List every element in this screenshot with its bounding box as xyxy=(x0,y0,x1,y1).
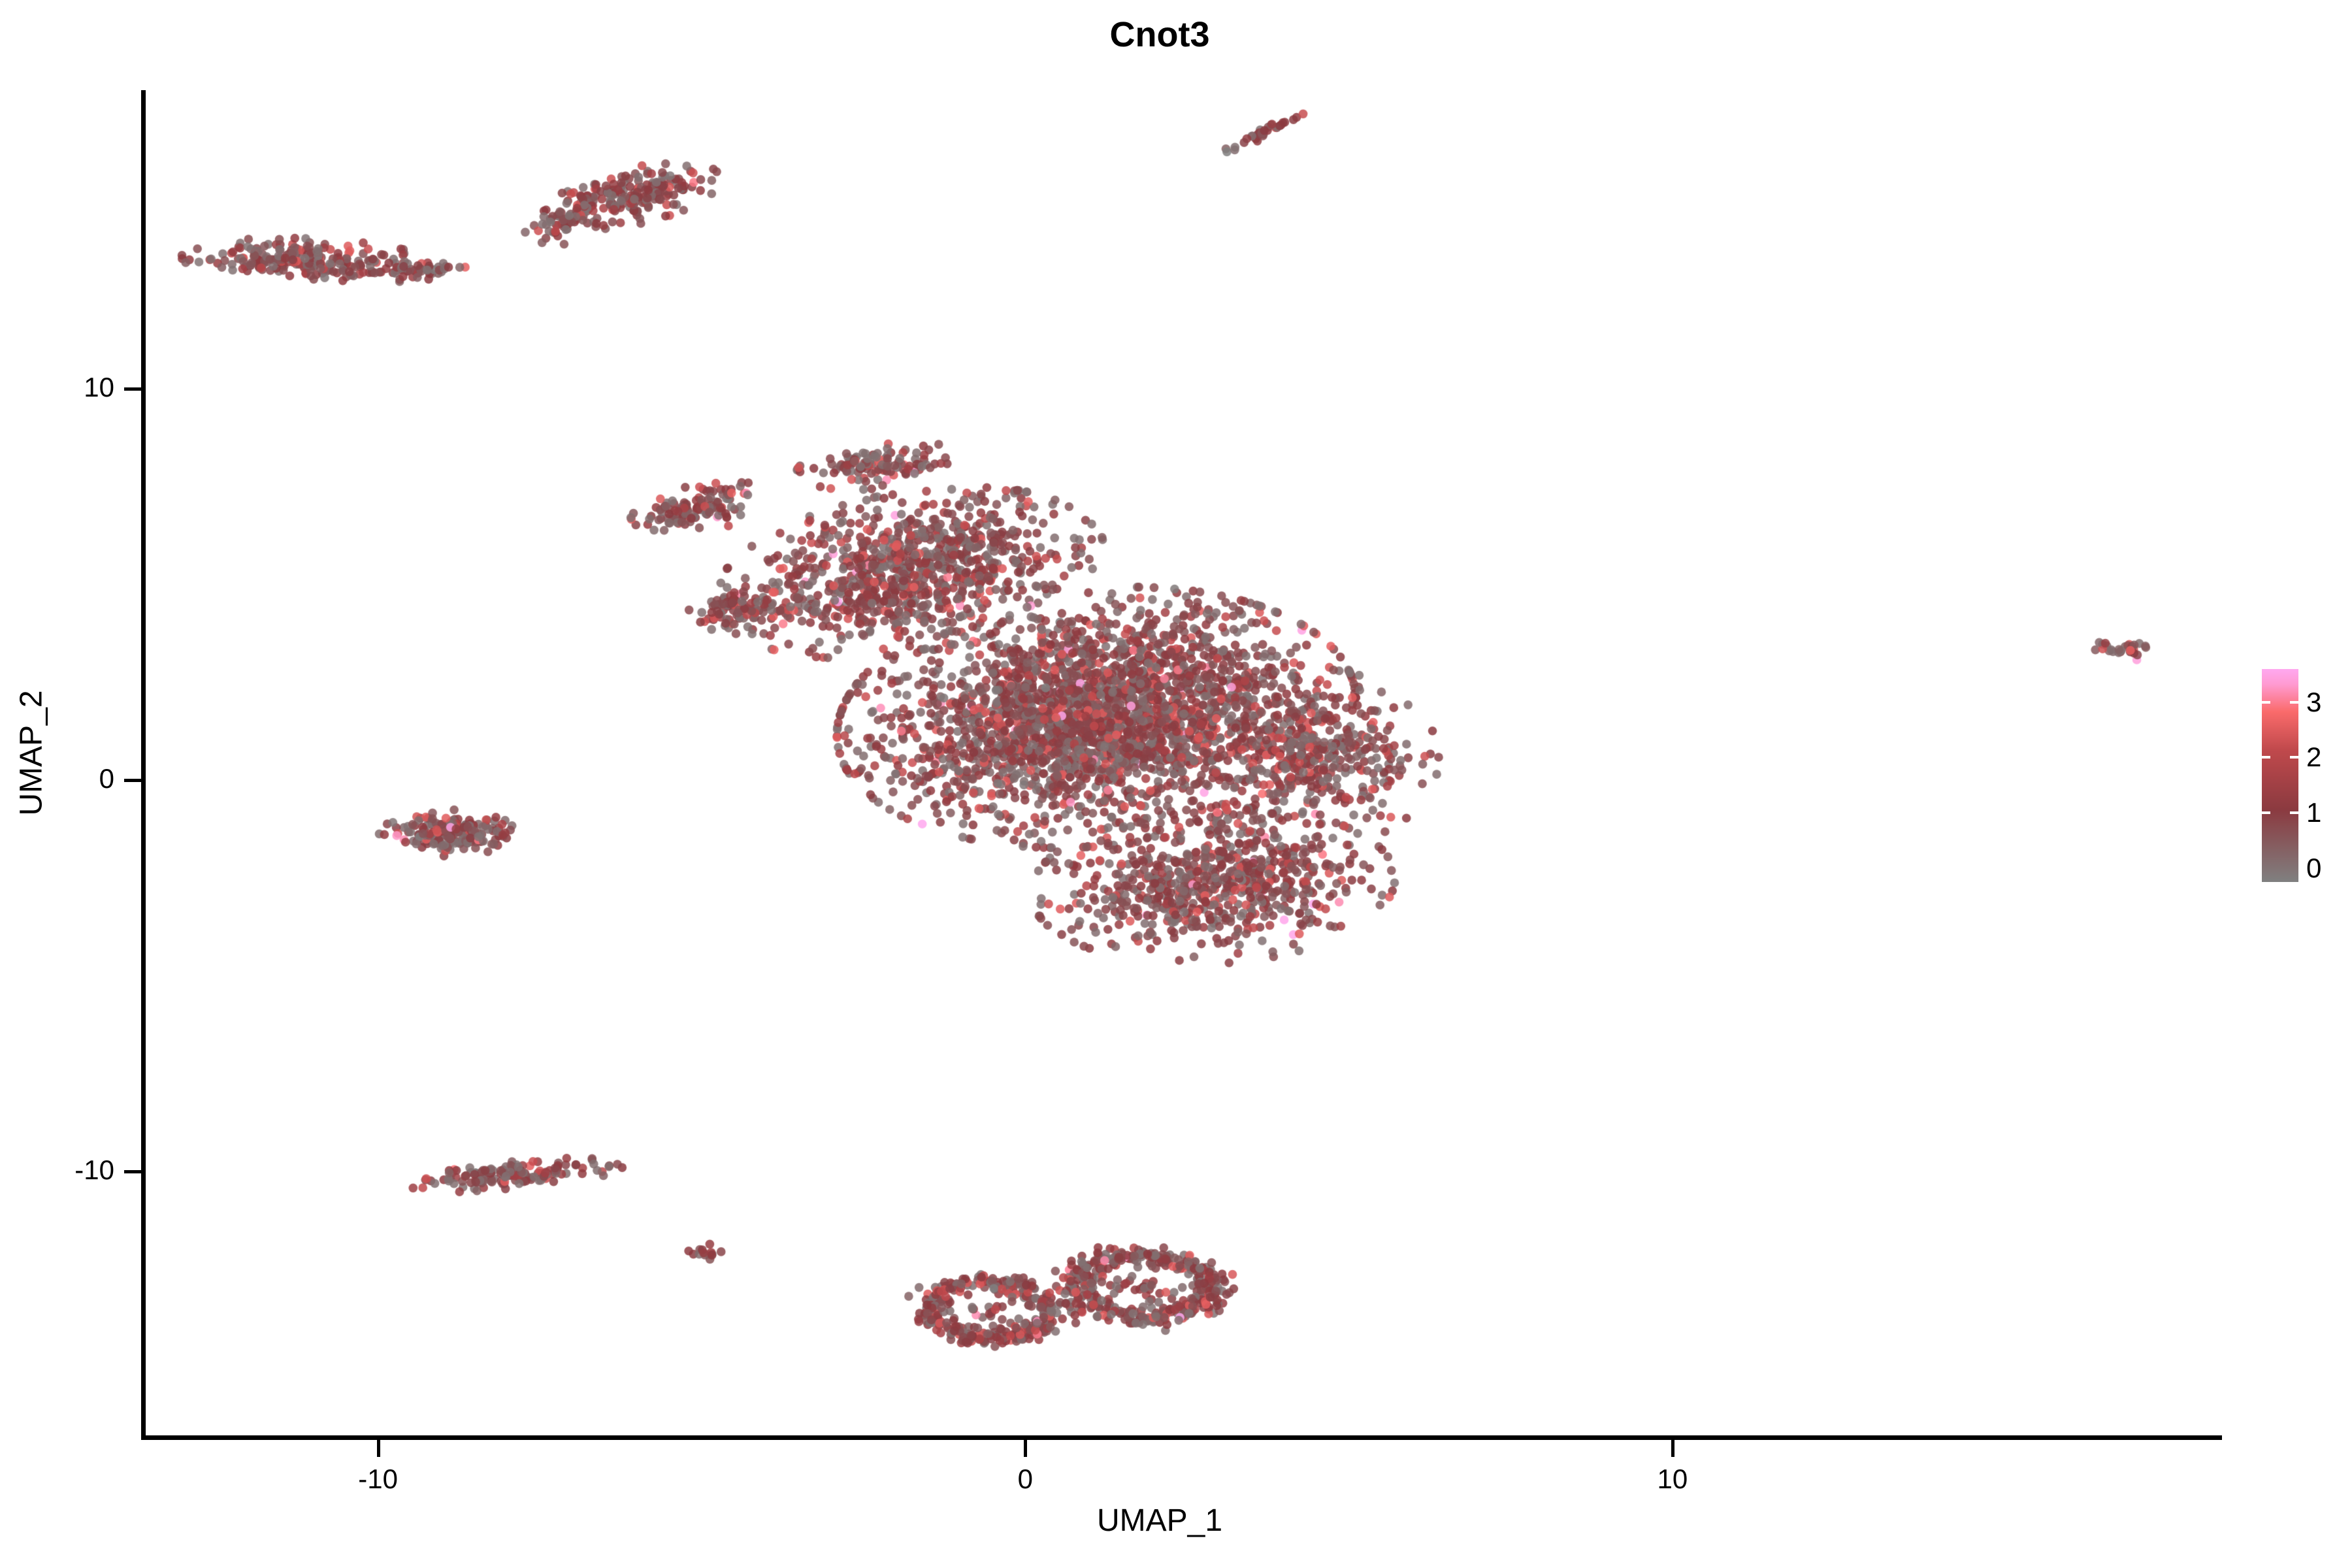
legend-tick-mark xyxy=(2290,701,2298,704)
legend-tick-label: 3 xyxy=(2306,689,2321,716)
legend-tick-mark xyxy=(2262,811,2270,814)
x-tick-mark xyxy=(377,1440,380,1457)
legend-tick-mark xyxy=(2262,701,2270,704)
y-axis-title: UMAP_2 xyxy=(14,361,50,1145)
x-tick-mark xyxy=(1024,1440,1027,1457)
page-title: Cnot3 xyxy=(0,14,2336,55)
plot-panel xyxy=(145,91,2216,1437)
legend-tick-label: 1 xyxy=(2306,799,2321,826)
y-tick-label: -10 xyxy=(0,1154,114,1186)
x-tick-mark xyxy=(1671,1440,1674,1457)
x-tick-label: -10 xyxy=(306,1463,450,1495)
x-tick-label: 0 xyxy=(953,1463,1097,1495)
scatter-points-layer xyxy=(145,91,2216,1437)
legend-tick-label: 2 xyxy=(2306,743,2321,771)
x-tick-label: 10 xyxy=(1601,1463,1744,1495)
x-axis-line xyxy=(141,1435,2222,1440)
umap-feature-plot: Cnot3 -10010100-10 UMAP_1 UMAP_2 3210 xyxy=(0,0,2352,1568)
legend-tick-mark xyxy=(2262,756,2270,759)
color-legend: 3210 xyxy=(2262,669,2340,882)
y-tick-mark xyxy=(124,387,141,391)
y-tick-mark xyxy=(124,779,141,782)
y-tick-mark xyxy=(124,1170,141,1173)
legend-tick-mark xyxy=(2290,756,2298,759)
legend-tick-mark xyxy=(2290,811,2298,814)
y-axis-line xyxy=(141,90,146,1439)
x-axis-title: UMAP_1 xyxy=(0,1503,2336,1539)
legend-tick-label: 0 xyxy=(2306,855,2321,882)
